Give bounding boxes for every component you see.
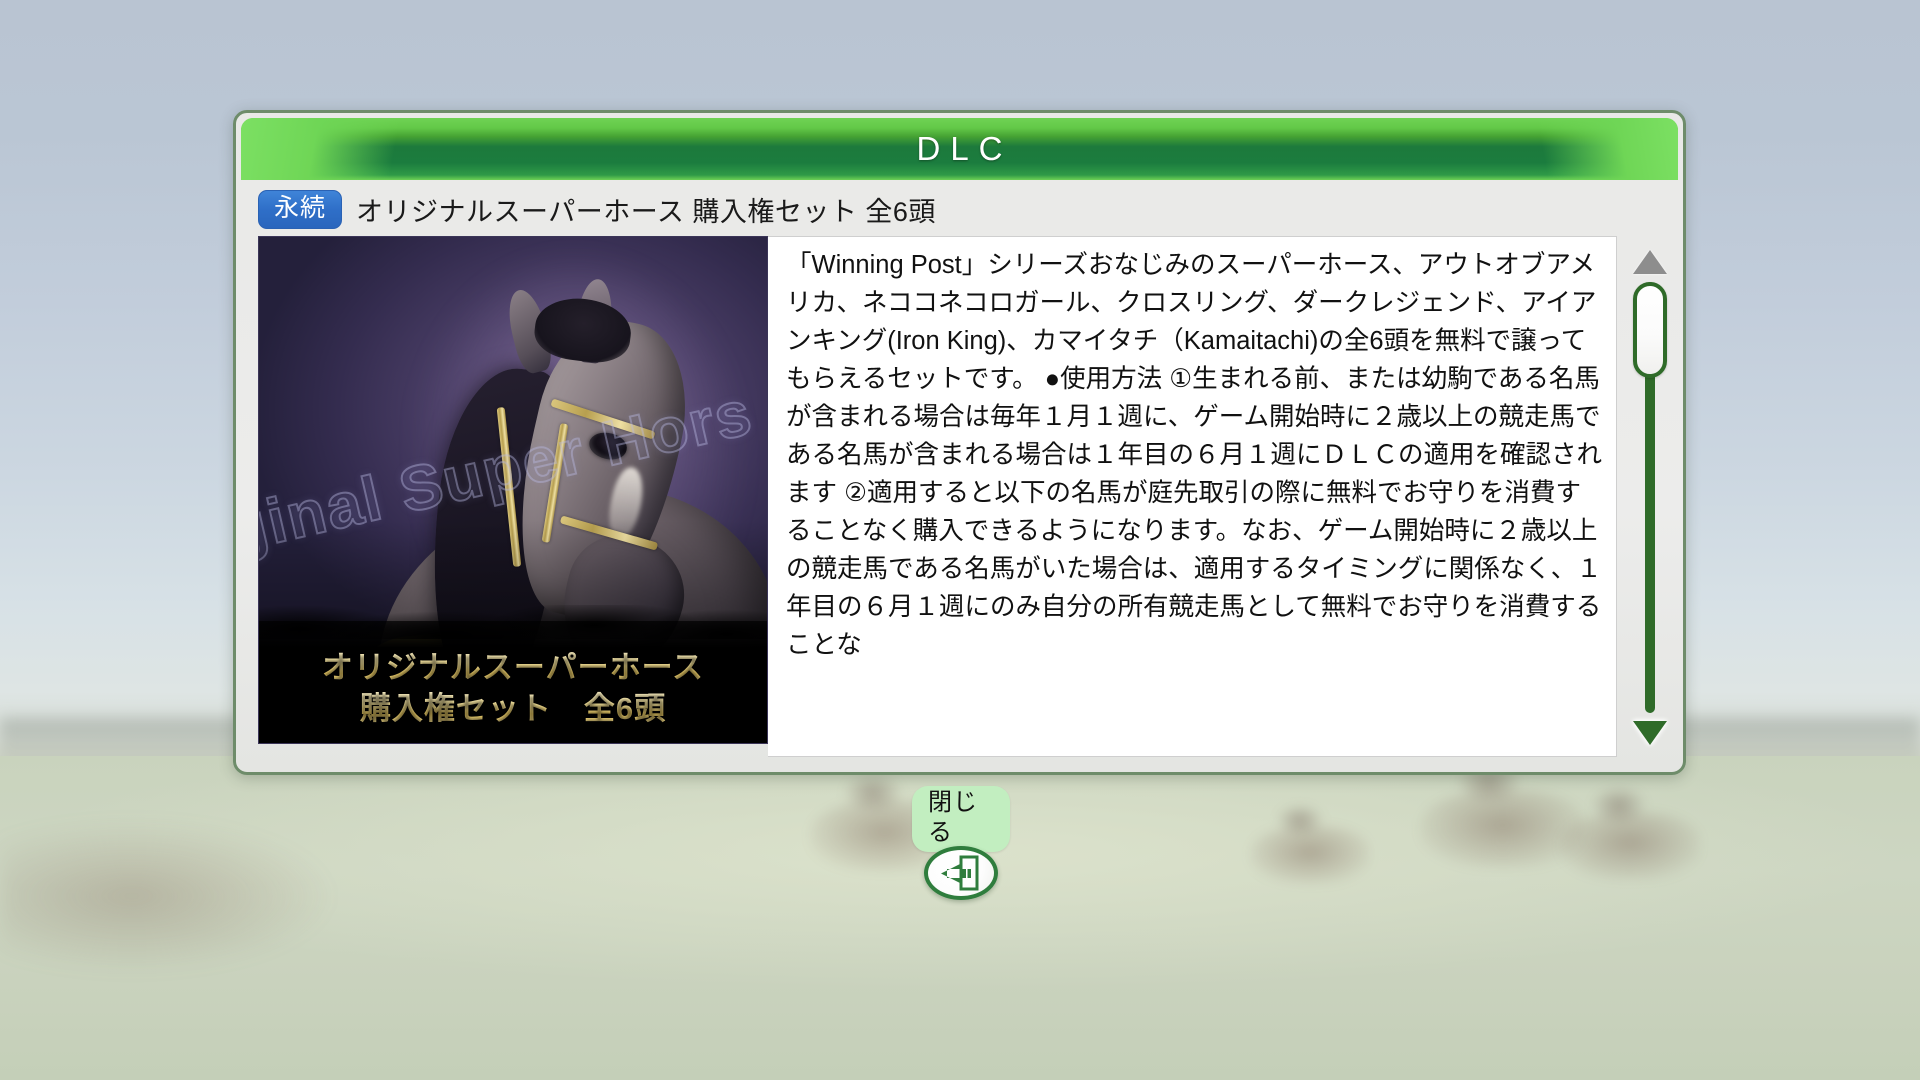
description-paragraph: 「Winning Post」シリーズおなじみのスーパーホース、アウトオブアメリカ… (786, 247, 1602, 665)
description-region: 「Winning Post」シリーズおなじみのスーパーホース、アウトオブアメリカ… (768, 236, 1683, 757)
close-button[interactable]: 閉じる (912, 786, 1010, 896)
game-screen: DLC 永続 オリジナルスーパーホース 購入権セット 全6頭 (0, 0, 1920, 1080)
caption-line-2: 購入権セット 全6頭 (259, 689, 767, 729)
background-racehorse-silhouette (1250, 826, 1370, 884)
scroll-down-icon[interactable] (1633, 721, 1667, 745)
exit-door-arrow-icon[interactable] (924, 846, 998, 900)
caption-line-1: オリジナルスーパーホース (259, 648, 767, 688)
scrollbar-thumb[interactable] (1633, 282, 1667, 378)
scrollbar-track[interactable] (1645, 282, 1655, 713)
dlc-item-header: 永続 オリジナルスーパーホース 購入権セット 全6頭 (236, 180, 1683, 236)
background-blur-left (0, 821, 330, 971)
page-title: DLC (241, 118, 1678, 180)
scrollbar[interactable] (1617, 236, 1683, 757)
status-badge: 永続 (258, 190, 342, 229)
description-text: 「Winning Post」シリーズおなじみのスーパーホース、アウトオブアメリカ… (768, 236, 1617, 757)
dlc-content-area: iginal Super Hors オリジナルスーパーホース 購入権セット 全6… (236, 236, 1683, 757)
scroll-up-icon[interactable] (1633, 250, 1667, 274)
dialog-title-bar: DLC (241, 118, 1678, 180)
dlc-dialog: DLC 永続 オリジナルスーパーホース 購入権セット 全6頭 (233, 110, 1686, 775)
dlc-item-title: オリジナルスーパーホース 購入権セット 全6頭 (356, 190, 936, 229)
background-racehorse-silhouette (1560, 812, 1700, 880)
close-button-label: 閉じる (912, 786, 1010, 852)
dlc-thumbnail-image: iginal Super Hors オリジナルスーパーホース 購入権セット 全6… (258, 236, 768, 744)
thumbnail-caption: オリジナルスーパーホース 購入権セット 全6頭 (259, 648, 767, 729)
